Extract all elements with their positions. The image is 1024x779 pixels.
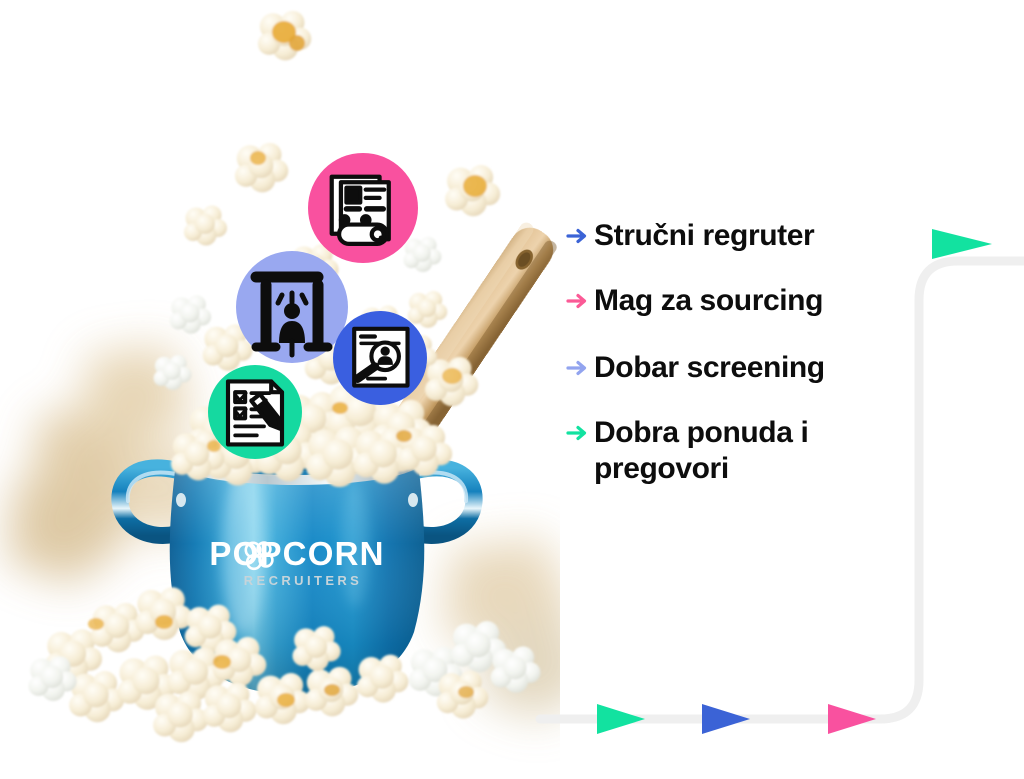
- badge-profile-search: [333, 311, 427, 405]
- feature-list: Stručni regruter Mag za sourcing Dobar s…: [566, 218, 946, 486]
- feature-label: Dobra ponuda i pregovori: [594, 415, 808, 486]
- badge-offer-checklist: [208, 365, 302, 459]
- checklist-pen-icon: [228, 381, 284, 444]
- arrow-right-icon: [566, 221, 594, 251]
- hero-banner: POPCORN RECRUITERS: [0, 0, 1024, 779]
- profile-magnifier-icon: [354, 329, 407, 386]
- arrow-right-icon: [566, 353, 594, 383]
- logo-subtitle: RECRUITERS: [244, 573, 363, 588]
- feature-item: Dobar screening: [566, 350, 946, 385]
- arrow-right-icon: [566, 418, 594, 448]
- pot-handle-right: [418, 468, 474, 536]
- feature-label: Mag za sourcing: [594, 283, 823, 318]
- path-marker-bottom-2: [702, 704, 750, 734]
- path-marker-bottom-3: [828, 704, 876, 734]
- feature-label: Dobar screening: [594, 350, 825, 385]
- path-marker-bottom-1: [597, 704, 645, 734]
- documents-search-icon: [332, 177, 389, 244]
- popcorn-illustration: POPCORN RECRUITERS: [0, 0, 560, 779]
- badge-cv-search: [308, 153, 418, 263]
- arrow-right-icon: [566, 286, 594, 316]
- feature-item: Mag za sourcing: [566, 283, 946, 318]
- feature-label: Stručni regruter: [594, 218, 814, 253]
- logo-wordmark: POPCORN: [209, 535, 384, 572]
- feature-item: Stručni regruter: [566, 218, 946, 253]
- badge-candidate-screening: [236, 251, 348, 363]
- feature-item: Dobra ponuda i pregovori: [566, 415, 946, 486]
